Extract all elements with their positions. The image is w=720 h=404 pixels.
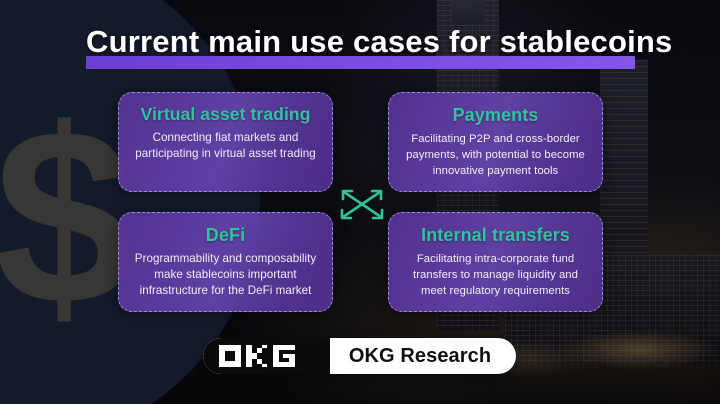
dollar-sign-watermark: $ xyxy=(0,92,133,342)
okg-logo-mark xyxy=(203,338,330,374)
card-title: Payments xyxy=(400,104,591,127)
okg-research-label: OKG Research xyxy=(349,345,491,368)
card-title: Virtual asset trading xyxy=(130,104,321,126)
card-body: Facilitating intra-corporate fund transf… xyxy=(400,251,591,299)
okg-wordmark-icon xyxy=(219,345,315,367)
exchange-arrows-icon xyxy=(337,186,387,224)
use-case-card-internal-transfers: Internal transfers Facilitating intra-co… xyxy=(388,212,603,312)
use-case-card-payments: Payments Facilitating P2P and cross-bord… xyxy=(388,92,603,192)
card-body: Connecting fiat markets and participatin… xyxy=(130,130,321,163)
card-body: Programmability and composability make s… xyxy=(130,251,321,300)
card-title: DeFi xyxy=(130,224,321,247)
card-body: Facilitating P2P and cross-border paymen… xyxy=(400,131,591,179)
use-case-card-virtual-asset-trading: Virtual asset trading Connecting fiat ma… xyxy=(118,92,333,192)
title-block: Current main use cases for stablecoins xyxy=(86,26,638,59)
okg-research-logo: OKG Research xyxy=(203,338,516,374)
slide-root: $ Current main use cases for stablecoins… xyxy=(0,0,720,404)
okg-logo-text-area: OKG Research xyxy=(330,338,516,374)
card-title: Internal transfers xyxy=(400,224,591,247)
page-title: Current main use cases for stablecoins xyxy=(86,26,638,59)
use-case-card-defi: DeFi Programmability and composability m… xyxy=(118,212,333,312)
